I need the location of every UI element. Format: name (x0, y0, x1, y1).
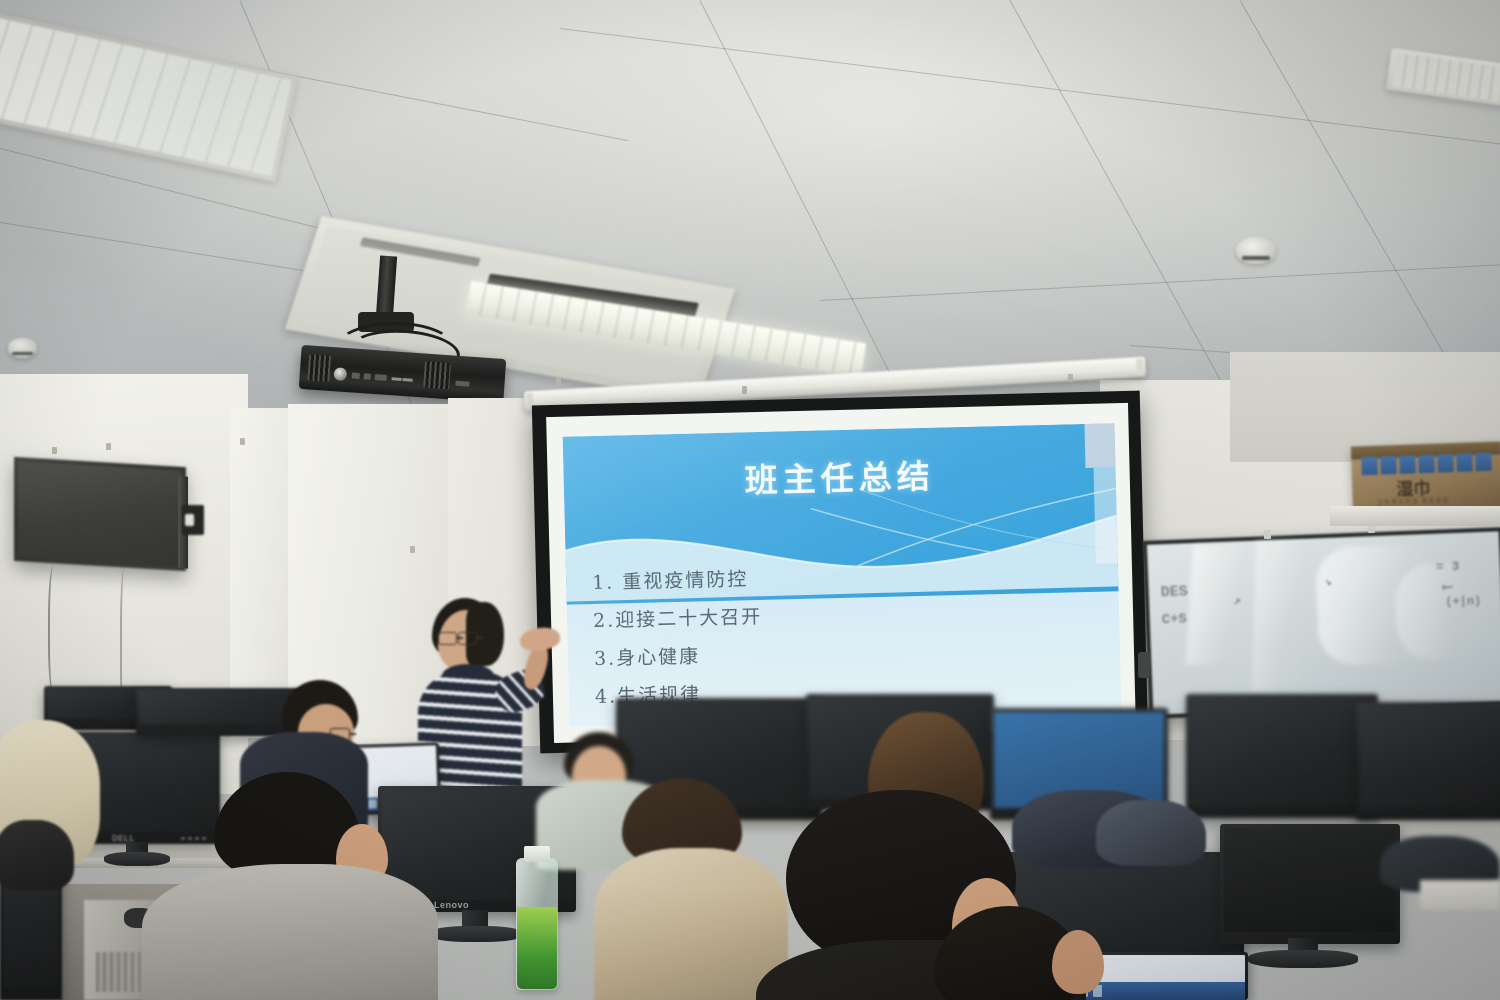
jacket (0, 820, 74, 890)
wall-tv-icon (14, 457, 186, 571)
whiteboard-mark-arrow: ↗ (1233, 593, 1241, 608)
whiteboard-pen-holder (1138, 652, 1150, 678)
cabinet-top (1330, 506, 1500, 526)
wall-hook (52, 447, 57, 454)
student (600, 778, 780, 1000)
teacher-hand (519, 625, 562, 652)
monitor-back (1220, 824, 1400, 944)
monitor (1186, 694, 1378, 818)
classroom-photo: ▬▬ (0, 0, 1500, 1000)
water-bottle-icon (516, 858, 558, 990)
wall-hook (106, 443, 111, 450)
student-head (1052, 930, 1104, 994)
slide-glare (563, 423, 1122, 726)
student (930, 906, 1130, 1000)
teacher-glasses (458, 632, 477, 645)
whiteboard-clip (1264, 530, 1271, 539)
smoke-detector-icon (8, 338, 37, 358)
student-torso (594, 848, 788, 1000)
whiteboard-mark: C+S (1161, 611, 1187, 628)
wall-tv-media-box (182, 505, 204, 535)
jacket (1096, 800, 1206, 866)
projector-brand-text: ▬▬ (391, 372, 414, 385)
bottle-cap (524, 846, 550, 862)
monitor-stand-base (1248, 950, 1358, 968)
teacher-glasses (438, 632, 457, 645)
monitor-stand-base (430, 926, 522, 942)
presentation-slide: 班主任总结 1. 重视疫情防控 2.迎接二十大召开 3.身心健康 4.生活规律 … (563, 423, 1122, 726)
whiteboard-mark: DES (1160, 583, 1188, 601)
whiteboard-mark-arrow: ⟵ (1442, 577, 1452, 596)
desk-surface-right (1420, 880, 1500, 910)
wall-hook (240, 438, 245, 445)
whiteboard-mark: = 3 (1436, 559, 1460, 575)
whiteboard-mark-arrow: ↘ (1324, 574, 1332, 589)
screen-bracket (742, 386, 747, 394)
tv-power-cable (48, 566, 62, 696)
projection-screen-surface: 班主任总结 1. 重视疫情防控 2.迎接二十大召开 3.身心健康 4.生活规律 … (546, 403, 1136, 743)
monitor (1356, 702, 1500, 820)
wall-hook (410, 546, 415, 553)
screen-bracket (1068, 374, 1073, 382)
student-torso (142, 864, 438, 1000)
screen-bracket (556, 378, 561, 386)
smoke-detector-icon (1236, 237, 1276, 264)
student (140, 772, 440, 1000)
supply-carton: 湿巾 卫生清洁用品 柔软亲肤 (1351, 441, 1500, 512)
whiteboard-mark-symbols: (+|n) (1445, 594, 1482, 609)
whiteboard-icon: DES C+S = 3 ⟵ (+|n) ↗ ↘ (1143, 527, 1500, 719)
